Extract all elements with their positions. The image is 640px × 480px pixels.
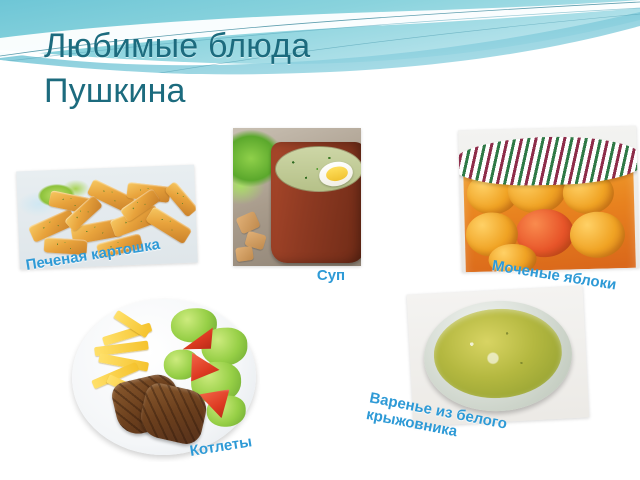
dish-caption-soup: Суп xyxy=(300,268,362,285)
presentation-slide: Любимые блюда Пушкина Печеная картошка xyxy=(0,0,640,480)
page-title: Любимые блюда Пушкина xyxy=(44,24,514,114)
dish-image-apples xyxy=(458,126,640,273)
dish-image-soup xyxy=(233,128,361,266)
